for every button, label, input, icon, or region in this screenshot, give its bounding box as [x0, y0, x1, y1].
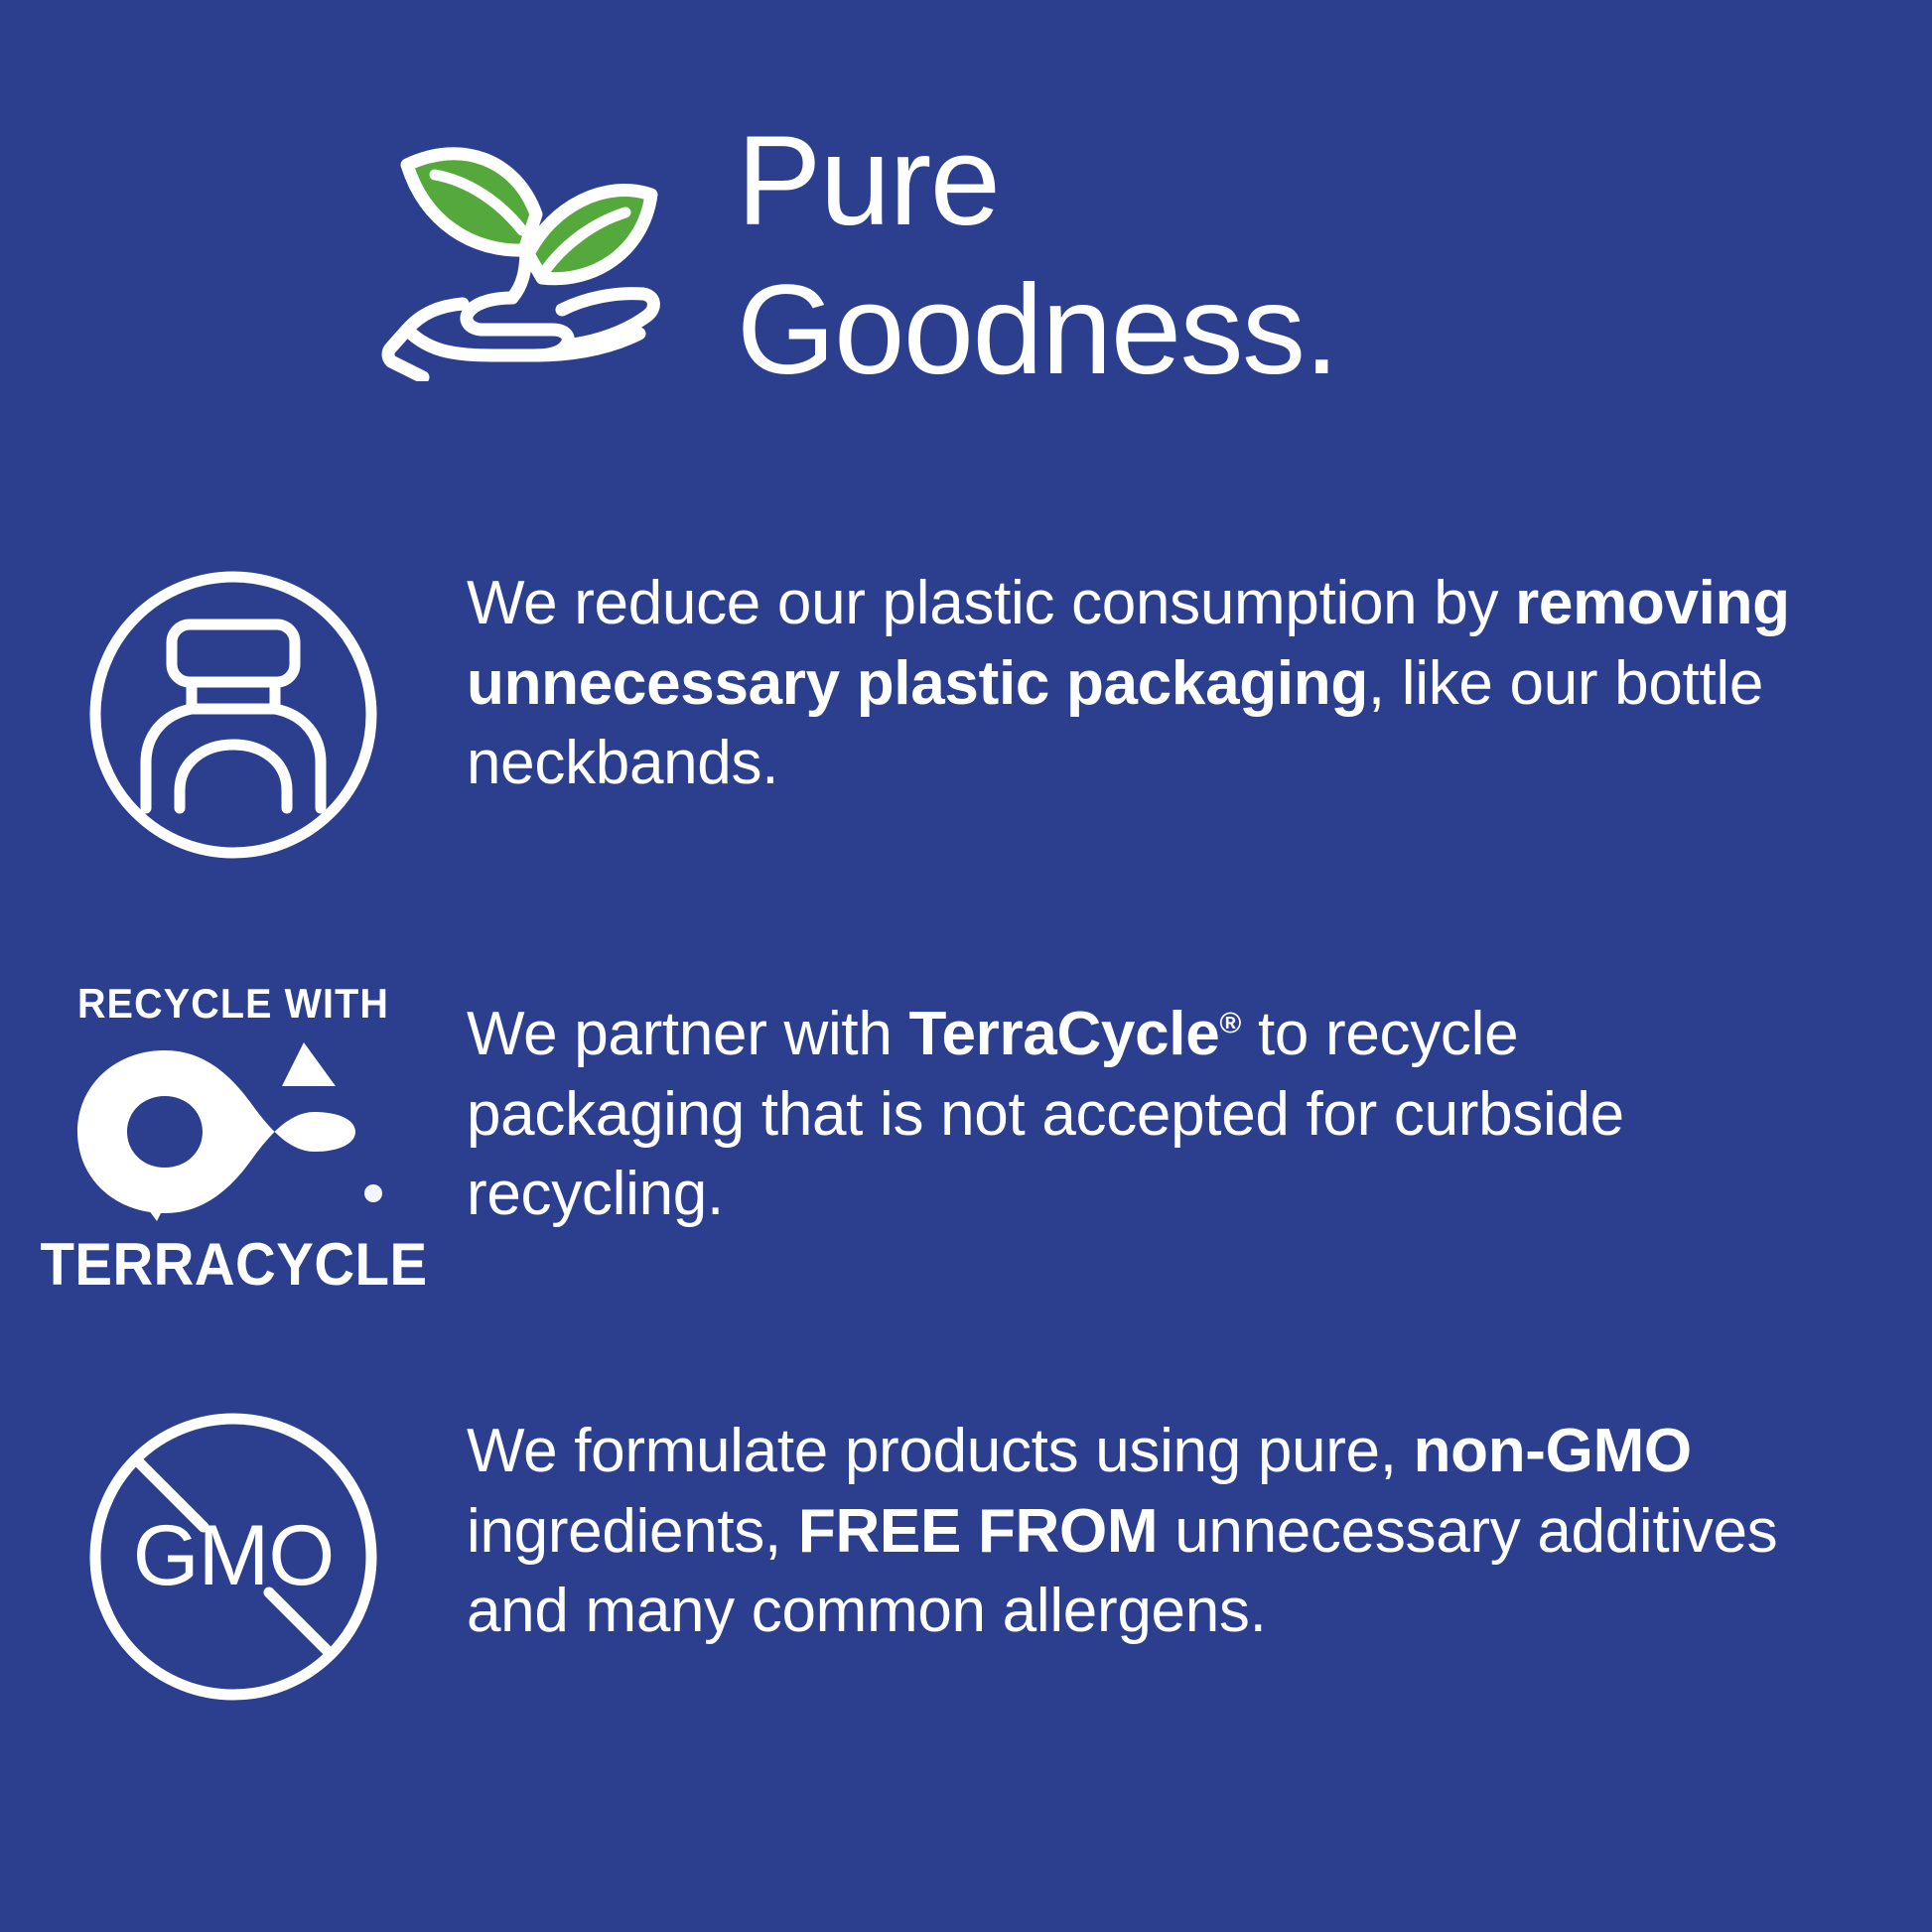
no-gmo-icon: GMO — [0, 1398, 467, 1706]
text-segment-bold: non-GMO — [1414, 1417, 1692, 1485]
text-segment: We formulate products using pure, — [467, 1417, 1414, 1485]
gmo-label: GMO — [133, 1508, 334, 1603]
feature-row-plastic-reduction: We reduce our plastic consumption by rem… — [0, 556, 1932, 913]
text-segment: We reduce our plastic consumption by — [467, 569, 1515, 637]
text-segment-bold: TerraCycle — [908, 1000, 1219, 1068]
infinity-recycle-icon — [69, 1035, 397, 1229]
brand-lockup: Pure Goodness. — [377, 99, 1338, 405]
feature-text-non-gmo: We formulate products using pure, non-GM… — [467, 1398, 1932, 1652]
bottle-neckband-icon — [0, 556, 467, 864]
terracycle-bottom-label: TERRACYCLE — [40, 1235, 427, 1295]
terracycle-logo: RECYCLE WITH TERRACYCLE — [0, 973, 467, 1295]
hand-holding-plant-logo — [377, 103, 675, 381]
feature-text-plastic-reduction: We reduce our plastic consumption by rem… — [467, 556, 1932, 804]
page-title: Pure Goodness. — [737, 107, 1338, 405]
feature-row-non-gmo: GMO We formulate products using pure, no… — [0, 1398, 1932, 1755]
terracycle-top-label: RECYCLE WITH — [77, 983, 389, 1025]
registered-mark: ® — [1219, 1007, 1241, 1039]
text-segment-bold: FREE FROM — [798, 1497, 1158, 1566]
text-segment: We partner with — [467, 1000, 908, 1068]
text-segment: ingredients, — [467, 1497, 798, 1566]
feature-row-terracycle: RECYCLE WITH TERRACYCLE We partner with … — [0, 973, 1932, 1330]
feature-text-terracycle: We partner with TerraCycle® to recycle p… — [467, 973, 1932, 1235]
feature-list: We reduce our plastic consumption by rem… — [0, 556, 1932, 1755]
